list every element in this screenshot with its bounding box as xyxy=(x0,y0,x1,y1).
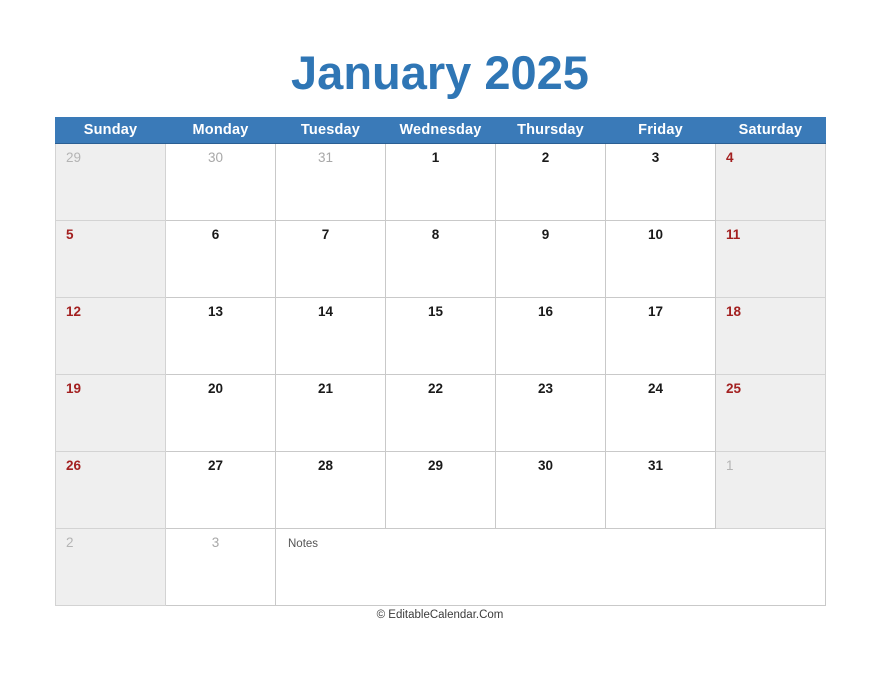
day-number: 25 xyxy=(716,375,825,397)
day-cell[interactable]: 31 xyxy=(606,452,716,529)
day-number: 1 xyxy=(386,144,495,166)
day-number: 26 xyxy=(56,452,165,474)
day-number: 2 xyxy=(496,144,605,166)
day-cell[interactable]: 31 xyxy=(276,144,386,221)
day-number: 9 xyxy=(496,221,605,243)
day-cell[interactable]: 5 xyxy=(56,221,166,298)
day-number: 11 xyxy=(716,221,825,243)
day-number: 22 xyxy=(386,375,495,397)
day-number: 8 xyxy=(386,221,495,243)
calendar-grid: Sunday Monday Tuesday Wednesday Thursday… xyxy=(55,117,825,606)
day-cell[interactable]: 7 xyxy=(276,221,386,298)
notes-label: Notes xyxy=(276,529,825,551)
day-cell[interactable]: 24 xyxy=(606,375,716,452)
day-cell[interactable]: 27 xyxy=(166,452,276,529)
day-cell[interactable]: 4 xyxy=(716,144,826,221)
day-cell[interactable]: 28 xyxy=(276,452,386,529)
day-number: 10 xyxy=(606,221,715,243)
weekday-header-friday: Friday xyxy=(606,118,716,144)
day-number: 1 xyxy=(716,452,825,474)
day-number: 3 xyxy=(606,144,715,166)
weekday-header-thursday: Thursday xyxy=(496,118,606,144)
weekday-header-tuesday: Tuesday xyxy=(276,118,386,144)
day-number: 14 xyxy=(276,298,385,320)
day-cell[interactable]: 13 xyxy=(166,298,276,375)
week-row: 29 30 31 1 2 3 4 xyxy=(56,144,826,221)
notes-cell[interactable]: Notes xyxy=(276,529,826,606)
day-cell[interactable]: 25 xyxy=(716,375,826,452)
day-number: 3 xyxy=(166,529,275,551)
day-number: 23 xyxy=(496,375,605,397)
day-cell[interactable]: 20 xyxy=(166,375,276,452)
page-title: January 2025 xyxy=(55,44,825,102)
day-number: 12 xyxy=(56,298,165,320)
day-cell[interactable]: 18 xyxy=(716,298,826,375)
day-cell[interactable]: 10 xyxy=(606,221,716,298)
day-number: 7 xyxy=(276,221,385,243)
day-number: 16 xyxy=(496,298,605,320)
weekday-header-wednesday: Wednesday xyxy=(386,118,496,144)
day-number: 17 xyxy=(606,298,715,320)
day-cell[interactable]: 29 xyxy=(56,144,166,221)
day-number: 27 xyxy=(166,452,275,474)
day-number: 30 xyxy=(166,144,275,166)
notes-row: 2 3 Notes xyxy=(56,529,826,606)
day-number: 19 xyxy=(56,375,165,397)
day-number: 31 xyxy=(276,144,385,166)
day-cell[interactable]: 12 xyxy=(56,298,166,375)
day-cell[interactable]: 3 xyxy=(606,144,716,221)
calendar-body: 29 30 31 1 2 3 4 5 6 7 8 9 10 11 xyxy=(56,144,826,606)
day-number: 29 xyxy=(386,452,495,474)
weekday-header-sunday: Sunday xyxy=(56,118,166,144)
day-number: 4 xyxy=(716,144,825,166)
day-cell[interactable]: 16 xyxy=(496,298,606,375)
day-cell[interactable]: 9 xyxy=(496,221,606,298)
day-number: 28 xyxy=(276,452,385,474)
calendar-table: Sunday Monday Tuesday Wednesday Thursday… xyxy=(55,117,826,606)
week-row: 26 27 28 29 30 31 1 xyxy=(56,452,826,529)
day-cell[interactable]: 29 xyxy=(386,452,496,529)
day-number: 13 xyxy=(166,298,275,320)
day-number: 29 xyxy=(56,144,165,166)
day-number: 5 xyxy=(56,221,165,243)
day-cell[interactable]: 6 xyxy=(166,221,276,298)
day-number: 6 xyxy=(166,221,275,243)
week-row: 19 20 21 22 23 24 25 xyxy=(56,375,826,452)
footer-copyright: © EditableCalendar.Com xyxy=(55,608,825,623)
weekday-header-row: Sunday Monday Tuesday Wednesday Thursday… xyxy=(56,118,826,144)
day-number: 20 xyxy=(166,375,275,397)
day-cell[interactable]: 17 xyxy=(606,298,716,375)
weekday-header-saturday: Saturday xyxy=(716,118,826,144)
day-number: 30 xyxy=(496,452,605,474)
calendar-page: January 2025 Sunday Monday Tuesday Wedne… xyxy=(0,0,883,682)
day-cell[interactable]: 23 xyxy=(496,375,606,452)
day-cell[interactable]: 14 xyxy=(276,298,386,375)
day-cell[interactable]: 22 xyxy=(386,375,496,452)
day-number: 31 xyxy=(606,452,715,474)
weekday-header-monday: Monday xyxy=(166,118,276,144)
week-row: 12 13 14 15 16 17 18 xyxy=(56,298,826,375)
day-cell[interactable]: 11 xyxy=(716,221,826,298)
day-cell[interactable]: 3 xyxy=(166,529,276,606)
day-cell[interactable]: 8 xyxy=(386,221,496,298)
day-cell[interactable]: 19 xyxy=(56,375,166,452)
day-number: 18 xyxy=(716,298,825,320)
day-cell[interactable]: 1 xyxy=(386,144,496,221)
week-row: 5 6 7 8 9 10 11 xyxy=(56,221,826,298)
day-cell[interactable]: 26 xyxy=(56,452,166,529)
day-cell[interactable]: 2 xyxy=(56,529,166,606)
day-cell[interactable]: 21 xyxy=(276,375,386,452)
day-number: 24 xyxy=(606,375,715,397)
day-number: 21 xyxy=(276,375,385,397)
day-cell[interactable]: 1 xyxy=(716,452,826,529)
day-cell[interactable]: 2 xyxy=(496,144,606,221)
day-cell[interactable]: 15 xyxy=(386,298,496,375)
day-number: 15 xyxy=(386,298,495,320)
day-number: 2 xyxy=(56,529,165,551)
day-cell[interactable]: 30 xyxy=(166,144,276,221)
day-cell[interactable]: 30 xyxy=(496,452,606,529)
